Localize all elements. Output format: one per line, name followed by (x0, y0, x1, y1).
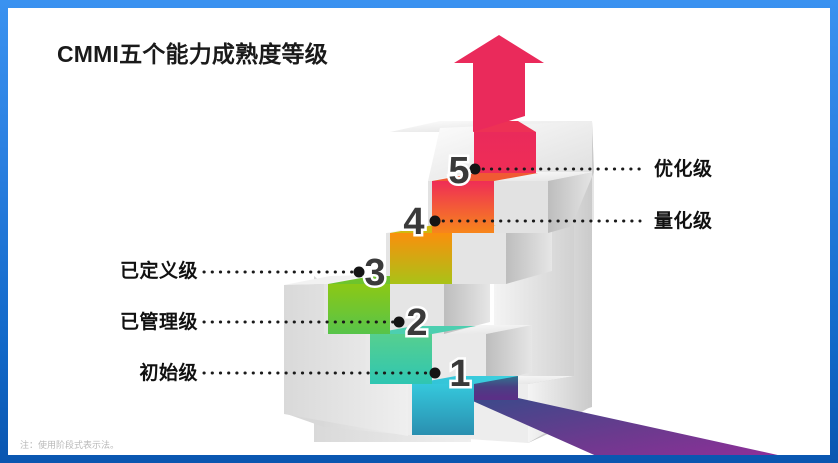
level-label-1: 初始级 (94, 358, 198, 385)
slide-note: 注：使用阶段式表示法。 (20, 438, 119, 451)
step-number-3: 3 (364, 252, 385, 294)
step-number-4: 4 (403, 201, 424, 243)
level-label-5: 优化级 (654, 154, 713, 181)
leader-dot-4 (430, 216, 441, 227)
level-label-3: 已定义级 (94, 256, 198, 283)
leader-dot-3 (354, 267, 365, 278)
step-number-5: 5 (448, 150, 469, 192)
slide-frame: 5 4 3 2 1 CMMI五个能力成熟度等级 已定义级 已管理级 初始级 优化… (0, 0, 838, 463)
step-number-2: 2 (406, 302, 427, 344)
leader-dot-5 (470, 164, 481, 175)
level-label-4: 量化级 (654, 206, 713, 233)
page-title: CMMI五个能力成熟度等级 (57, 35, 328, 69)
leader-dot-2 (394, 317, 405, 328)
leader-dot-1 (430, 368, 441, 379)
slide-canvas: 5 4 3 2 1 CMMI五个能力成熟度等级 已定义级 已管理级 初始级 优化… (8, 8, 830, 455)
level-label-2: 已管理级 (94, 307, 198, 334)
upward-arrow-icon (454, 35, 544, 132)
step-number-1: 1 (449, 353, 470, 395)
